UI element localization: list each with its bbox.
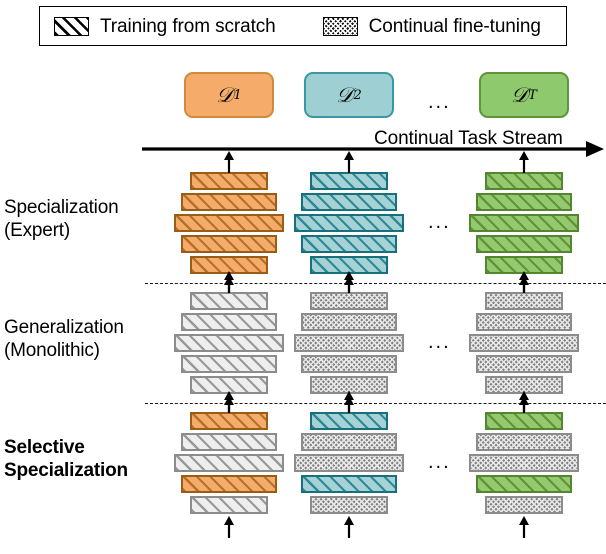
dataset-ellipsis: ... <box>428 92 451 112</box>
layer-teal-hatch <box>301 193 397 211</box>
stack-output-arrow-icon <box>343 271 355 293</box>
layer-gray-cross <box>301 355 397 373</box>
layer-orange-hatch <box>190 172 268 190</box>
dataset-box-d1: 𝒟1 <box>184 72 274 118</box>
row-label-specialization-line1: Specialization <box>4 196 118 219</box>
dataset-box-dt: 𝒟T <box>479 72 569 118</box>
layer-green-hatch <box>485 172 563 190</box>
stack-output-arrow-icon <box>343 151 355 173</box>
layer-gray-cross <box>301 313 397 331</box>
layer-green-hatch <box>476 193 572 211</box>
dataset-symbol-dt: 𝒟 <box>511 83 528 108</box>
layer-gray-cross <box>476 313 572 331</box>
divider-specialization-generalization <box>145 283 606 284</box>
layer-gray-hatch <box>181 313 277 331</box>
layer-teal-hatch <box>301 475 397 493</box>
layer-teal-hatch <box>310 412 388 430</box>
dataset-subscript-d1: 1 <box>233 88 241 103</box>
layer-green-hatch <box>485 412 563 430</box>
layer-gray-cross <box>469 334 579 352</box>
task-stream-arrow-icon <box>142 140 606 160</box>
layer-gray-cross <box>469 454 579 472</box>
legend-item-training-from-scratch: Training from scratch <box>54 7 276 45</box>
layer-gray-cross <box>310 496 388 514</box>
layer-green-hatch <box>469 214 579 232</box>
stack-output-arrow-icon <box>223 391 235 413</box>
layer-teal-hatch <box>301 235 397 253</box>
layer-teal-hatch <box>310 172 388 190</box>
layer-gray-hatch <box>190 292 268 310</box>
dataset-symbol-d1: 𝒟 <box>216 83 233 108</box>
layer-gray-cross <box>476 355 572 373</box>
stack-output-arrow-icon <box>223 151 235 173</box>
dataset-subscript-d2: 2 <box>353 88 361 103</box>
legend-label-continual-fine-tuning: Continual fine-tuning <box>369 17 541 36</box>
figure-canvas: Training from scratch Continual fine-tun… <box>0 0 606 554</box>
layer-orange-hatch <box>181 475 277 493</box>
layer-gray-hatch <box>181 355 277 373</box>
layer-orange-hatch <box>181 235 277 253</box>
layer-gray-hatch <box>174 334 284 352</box>
layer-gray-cross <box>310 292 388 310</box>
layer-orange-hatch <box>174 214 284 232</box>
row-label-specialization: Specialization (Expert) <box>4 196 118 242</box>
divider-generalization-selective <box>145 403 606 404</box>
row-label-selective-specialization: Selective Specialization <box>4 436 128 482</box>
legend: Training from scratch Continual fine-tun… <box>39 6 567 46</box>
layer-gray-hatch <box>174 454 284 472</box>
layer-orange-hatch <box>181 193 277 211</box>
stack-input-arrow-icon <box>223 516 235 538</box>
crosshatch-swatch-icon <box>323 17 358 36</box>
layer-teal-hatch <box>294 214 404 232</box>
row-label-generalization: Generalization (Monolithic) <box>4 316 124 362</box>
layer-gray-hatch <box>190 496 268 514</box>
stack-output-arrow-icon <box>343 391 355 413</box>
stack-output-arrow-icon <box>518 271 530 293</box>
row-label-selective-specialization-line2: Specialization <box>4 459 128 482</box>
dataset-subscript-dt: T <box>528 88 537 103</box>
stack-input-arrow-icon <box>518 516 530 538</box>
legend-item-continual-fine-tuning: Continual fine-tuning <box>323 7 541 45</box>
dataset-symbol-d2: 𝒟 <box>336 83 353 108</box>
row-label-generalization-line1: Generalization <box>4 316 124 339</box>
stack-output-arrow-icon <box>518 151 530 173</box>
legend-label-training-from-scratch: Training from scratch <box>100 17 276 36</box>
layer-gray-cross <box>476 433 572 451</box>
layer-green-hatch <box>476 235 572 253</box>
dataset-box-d2: 𝒟2 <box>304 72 394 118</box>
stack-output-arrow-icon <box>223 271 235 293</box>
stack-input-arrow-icon <box>343 516 355 538</box>
layer-gray-cross <box>485 496 563 514</box>
layer-gray-cross <box>301 433 397 451</box>
layer-gray-hatch <box>181 433 277 451</box>
layer-gray-cross <box>294 334 404 352</box>
layer-orange-hatch <box>190 412 268 430</box>
row-ellipsis-selective-specialization: ... <box>428 452 451 472</box>
row-label-selective-specialization-line1: Selective <box>4 436 128 459</box>
row-ellipsis-specialization: ... <box>428 212 451 232</box>
row-label-generalization-line2: (Monolithic) <box>4 339 124 362</box>
row-ellipsis-generalization: ... <box>428 332 451 352</box>
layer-gray-cross <box>294 454 404 472</box>
layer-gray-cross <box>485 292 563 310</box>
row-label-specialization-line2: (Expert) <box>4 219 118 242</box>
stack-output-arrow-icon <box>518 391 530 413</box>
hatch-swatch-icon <box>54 17 89 36</box>
layer-green-hatch <box>476 475 572 493</box>
